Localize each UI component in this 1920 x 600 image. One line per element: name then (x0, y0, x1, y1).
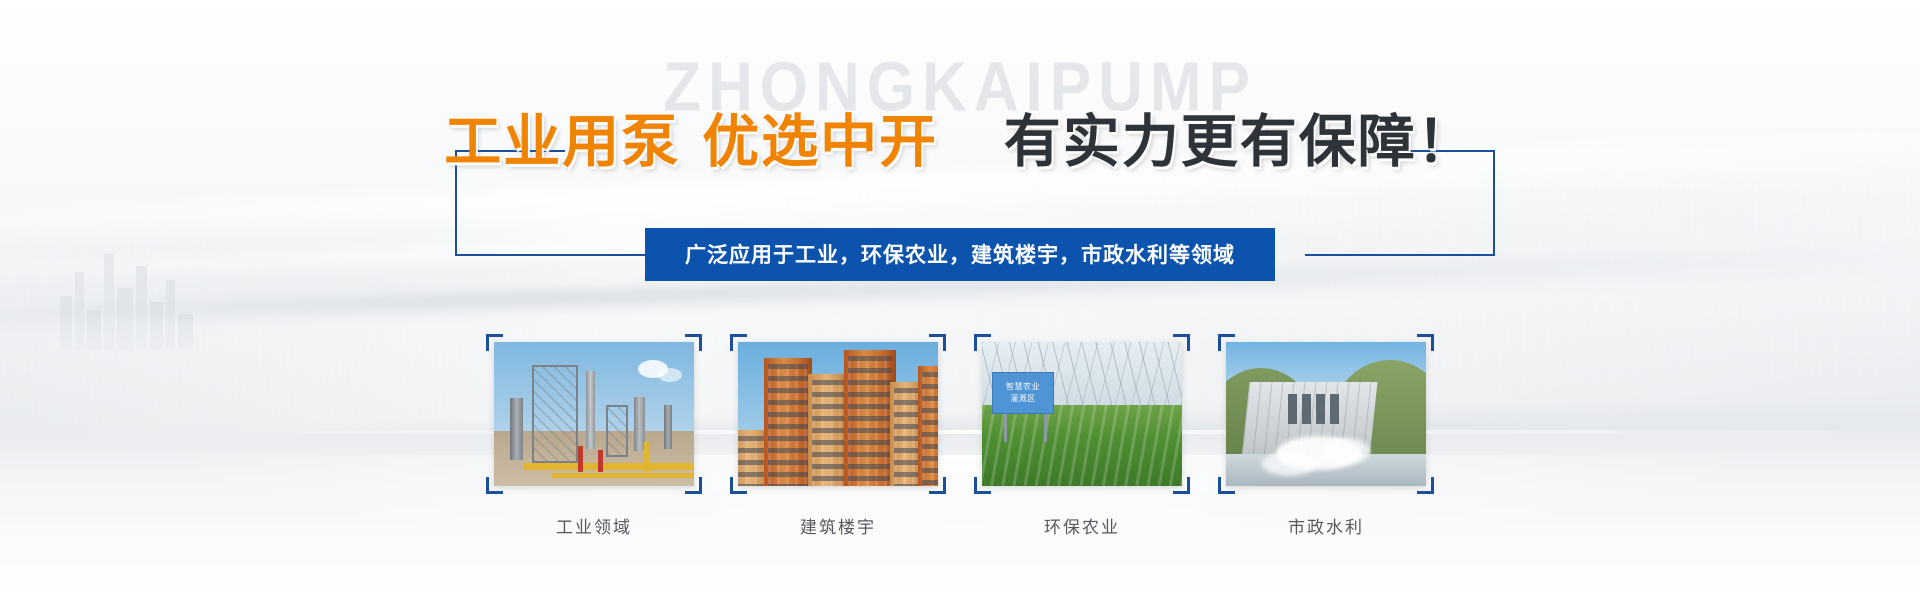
card-label: 建筑楼宇 (730, 513, 946, 538)
application-card[interactable]: 建筑楼宇 (730, 334, 946, 538)
corner-bracket-icon (685, 477, 702, 494)
card-label: 市政水利 (1218, 513, 1434, 538)
corner-bracket-icon (685, 334, 702, 351)
greenhouse-sign: 智慧农业 灌溉区 (992, 372, 1054, 414)
corner-bracket-icon (929, 334, 946, 351)
application-card[interactable]: 市政水利 (1218, 334, 1434, 538)
corner-bracket-icon (1417, 334, 1434, 351)
card-thumbnail-dam-spillway (1226, 342, 1426, 486)
corner-bracket-icon (929, 477, 946, 494)
application-card[interactable]: 智慧农业 灌溉区 环保农业 (974, 334, 1190, 538)
card-frame (730, 334, 946, 494)
headline: 工业用泵 优选中开 有实力更有保障！ (0, 96, 1920, 178)
headline-highlight: 工业用泵 优选中开 (444, 109, 938, 175)
corner-bracket-icon (974, 334, 991, 351)
card-label: 环保农业 (974, 513, 1190, 538)
corner-bracket-icon (1173, 477, 1190, 494)
corner-bracket-icon (730, 477, 747, 494)
application-card[interactable]: 工业领域 (486, 334, 702, 538)
card-thumbnail-city-buildings (738, 342, 938, 486)
corner-bracket-icon (1173, 334, 1190, 351)
corner-bracket-icon (486, 334, 503, 351)
card-label: 工业领域 (486, 513, 702, 538)
greenhouse-sign-line1: 智慧农业 (1006, 381, 1040, 393)
corner-bracket-icon (1218, 477, 1235, 494)
headline-rest: 有实力更有保障！ (1004, 109, 1476, 175)
card-frame (486, 334, 702, 494)
corner-bracket-icon (486, 477, 503, 494)
subtitle-bar: 广泛应用于工业，环保农业，建筑楼宇，市政水利等领域 (645, 228, 1275, 281)
corner-bracket-icon (1417, 477, 1434, 494)
card-frame: 智慧农业 灌溉区 (974, 334, 1190, 494)
city-skyline-silhouette (60, 230, 200, 350)
corner-bracket-icon (1218, 334, 1235, 351)
card-thumbnail-industrial-plant (494, 342, 694, 486)
card-frame (1218, 334, 1434, 494)
corner-bracket-icon (730, 334, 747, 351)
application-card-row: 工业领域 (486, 334, 1434, 538)
greenhouse-sign-line2: 灌溉区 (1010, 393, 1036, 405)
card-thumbnail-greenhouse-farm: 智慧农业 灌溉区 (982, 342, 1182, 486)
promo-banner: ZHONGKAIPUMP 工业用泵 优选中开 有实力更有保障！ 广泛应用于工业，… (0, 0, 1920, 600)
corner-bracket-icon (974, 477, 991, 494)
